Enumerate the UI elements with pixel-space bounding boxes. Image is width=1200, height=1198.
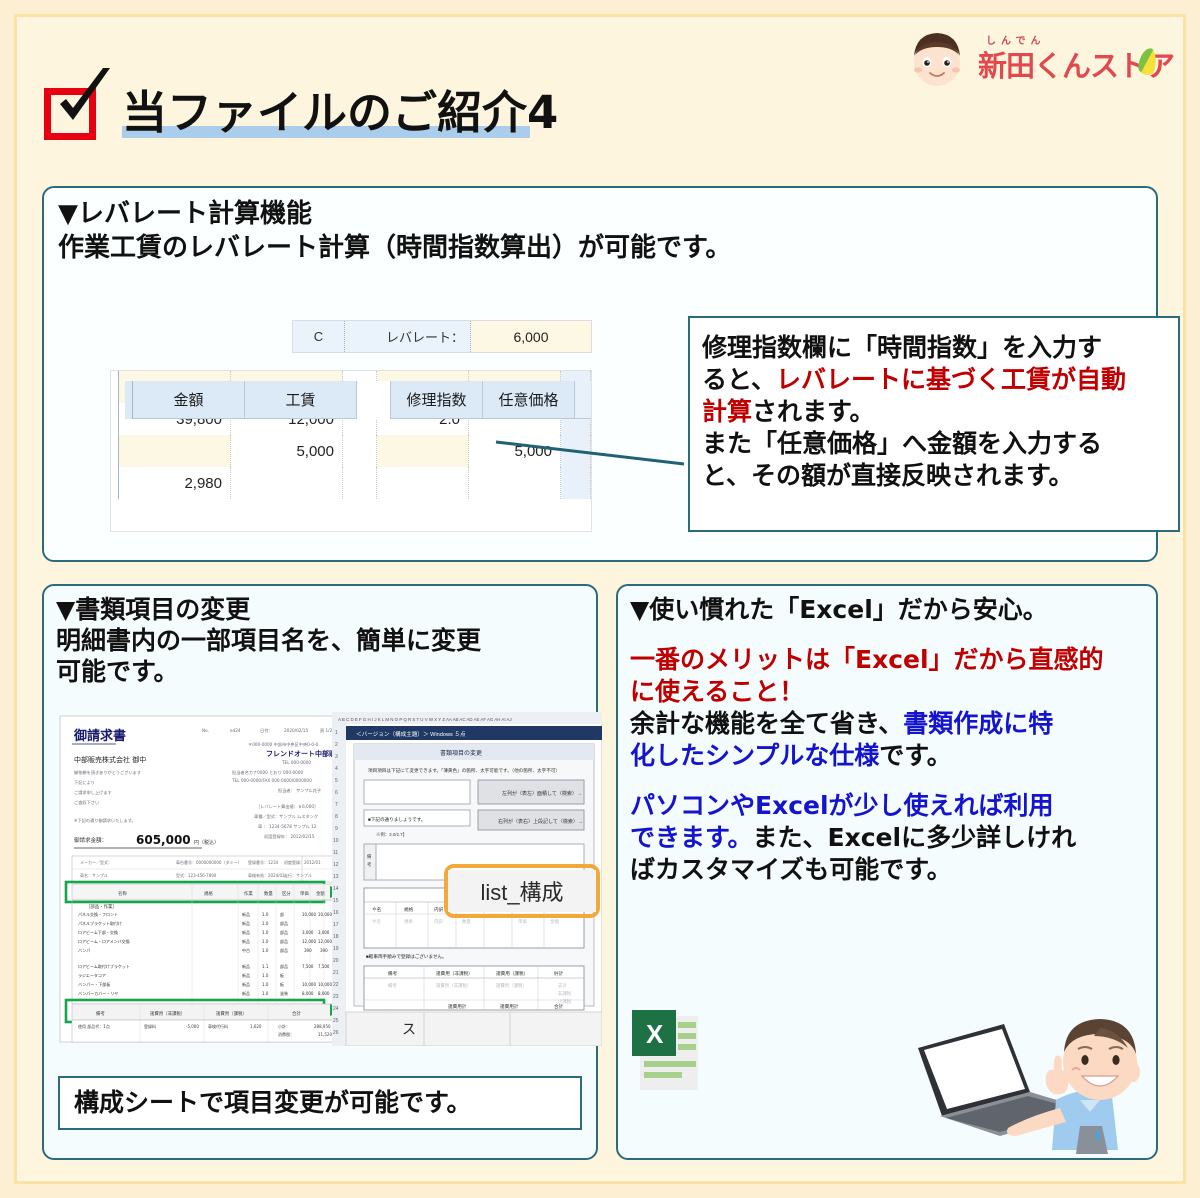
svg-text:パネル交換・フロント: パネル交換・フロント: [78, 911, 118, 917]
svg-text:288,950: 288,950: [314, 1024, 331, 1029]
svg-text:ロアビーム・ロアメンバ交換: ロアビーム・ロアメンバ交換: [78, 938, 130, 944]
svg-text:小計：: 小計：: [278, 1023, 290, 1029]
svg-text:非課税: 非課税: [558, 990, 572, 997]
svg-text:パネルブラケット取付け: パネルブラケット取付け: [78, 920, 122, 926]
svg-text:中古: 中古: [242, 947, 250, 953]
svg-text:11: 11: [333, 850, 338, 856]
box1-heading: ▼レバレート計算機能 作業工賃のレバレート計算（時間指数算出）が可能です。: [58, 198, 731, 266]
svg-text:1.0: 1.0: [262, 912, 269, 917]
svg-text:単価: 単価: [300, 890, 309, 897]
table-row[interactable]: 2,980: [111, 467, 591, 499]
lever-rate-label: レバレート：: [345, 321, 471, 352]
svg-text:12,000: 12,000: [302, 939, 316, 944]
table-header-row: 金額 工賃 修理指数 任意価格: [125, 381, 592, 419]
svg-text:■軽車両手順みで登録はございません。: ■軽車両手順みで登録はございません。: [366, 953, 447, 960]
svg-text:部品: 部品: [280, 947, 288, 953]
svg-text:担当者名カナ0000 とおり 000-0000: 担当者名カナ0000 とおり 000-0000: [232, 769, 304, 776]
svg-text:単価: 単価: [518, 918, 527, 925]
svg-text:規格: 規格: [404, 918, 413, 925]
svg-text:御依頼を頂きありがとうございます: 御依頼を頂きありがとうございます: [74, 769, 141, 776]
svg-text:項目項目は下記にて変更できます。「薄黄色」の箇所、太字可能で: 項目項目は下記にて変更できます。「薄黄色」の箇所、太字可能です。（他の箇所、太字…: [368, 767, 560, 774]
svg-text:11,520: 11,520: [318, 1032, 332, 1037]
svg-text:20: 20: [333, 958, 339, 964]
cell-shisu[interactable]: [377, 467, 469, 499]
cell-chin[interactable]: 5,000: [231, 435, 343, 467]
lever-rate-callout: 修理指数欄に「時間指数」を入力す ると、レバレートに基づく工賃が自動 計算されま…: [688, 316, 1180, 532]
svg-text:1.0: 1.0: [262, 948, 269, 953]
svg-text:走行：サンプル: 走行：サンプル: [284, 872, 312, 878]
svg-text:規格: 規格: [404, 906, 414, 913]
svg-text:7: 7: [335, 802, 338, 808]
svg-text:規格: 規格: [204, 890, 213, 897]
box2-heading-line3: 可能です。: [56, 656, 481, 687]
svg-text:バンパー・下部板: バンパー・下部板: [78, 981, 110, 987]
svg-text:3,000: 3,000: [302, 930, 314, 935]
svg-text:12,000: 12,000: [318, 939, 332, 944]
svg-text:車台番号：0000000000（ダミー）: 車台番号：0000000000（ダミー）: [176, 859, 241, 865]
svg-text:23: 23: [333, 994, 339, 1000]
svg-text:板: 板: [280, 981, 284, 987]
box2-caption: 構成シートで項目変更が可能です。: [58, 1076, 582, 1130]
box2-heading-line1: ▼書類項目の変更: [56, 594, 481, 625]
svg-text:諸費用（非課税）: 諸費用（非課税）: [436, 982, 471, 989]
cell-shisu[interactable]: [377, 435, 469, 467]
svg-text:8: 8: [335, 814, 338, 820]
svg-text:390: 390: [320, 948, 328, 953]
svg-text:390: 390: [304, 948, 312, 953]
invoice-thumbnail: 御請求書 No.e424 日付：2020/02/15 頁 1/2 〒000-00…: [52, 714, 344, 1044]
svg-text:数量: 数量: [462, 918, 471, 925]
svg-text:部: 部: [280, 911, 284, 917]
lever-rate-value[interactable]: 6,000: [471, 321, 591, 352]
svg-text:新品: 新品: [242, 963, 250, 969]
callout-seg4: 計算: [702, 397, 752, 426]
svg-text:2020/02/15: 2020/02/15: [284, 728, 308, 733]
callout-seg1: 修理指数欄に「時間指数」を入力す: [702, 333, 1102, 362]
svg-text:板: 板: [280, 972, 284, 978]
svg-text:諸費用（課税）: 諸費用（課税）: [496, 970, 528, 977]
svg-text:13: 13: [333, 874, 339, 880]
svg-text:車検有効：2024/02: 車検有効：2024/02: [248, 872, 285, 878]
callout-text: 修理指数欄に「時間指数」を入力す ると、レバレートに基づく工賃が自動 計算されま…: [690, 318, 1178, 492]
svg-text:車検代行料: 車検代行料: [208, 1023, 228, 1029]
svg-text:605,000: 605,000: [136, 833, 191, 847]
excel-benefits-section: ▼使い慣れた「Excel」だから安心。 一番のメリットは「Excel」だから直感…: [616, 584, 1158, 1160]
svg-text:9: 9: [335, 826, 338, 832]
svg-text:貯計: 貯計: [554, 970, 564, 977]
svg-text:21: 21: [333, 970, 339, 976]
svg-text:初度登録：2012/01: 初度登録：2012/01: [284, 859, 321, 865]
svg-text:バンパ: バンパ: [78, 948, 90, 953]
svg-text:7,500: 7,500: [318, 964, 330, 969]
table-header-shisu: 修理指数: [391, 381, 483, 419]
svg-text:1.0: 1.0: [262, 921, 269, 926]
cell-nini[interactable]: [469, 467, 561, 499]
svg-text:＜バージョン（構成主題）＞ Windows ５点: ＜バージョン（構成主題）＞ Windows ５点: [356, 730, 466, 738]
svg-text:や名: や名: [372, 906, 381, 913]
svg-text:日付：: 日付：: [260, 727, 273, 734]
svg-text:諸費用（課税）: 諸費用（課税）: [496, 982, 527, 989]
svg-text:2: 2: [335, 742, 338, 748]
box3-p2-black: また、Excelに多少詳しけれ: [753, 823, 1077, 852]
box3-p2-blue2: できます。: [630, 823, 753, 852]
svg-text:小課税: 小課税: [558, 998, 572, 1005]
svg-text:中部販売株式会社 御中: 中部販売株式会社 御中: [74, 755, 146, 764]
svg-text:1.0: 1.0: [262, 939, 269, 944]
svg-text:バンパーカバー・リヤ: バンパーカバー・リヤ: [78, 991, 118, 996]
svg-text:諸費用（非課税）: 諸費用（非課税）: [150, 1010, 185, 1017]
table-header-nini: 任意価格: [483, 381, 575, 419]
svg-text:金額: 金額: [550, 918, 559, 925]
svg-text:作業: 作業: [244, 890, 253, 897]
box1-heading-line2: 作業工賃のレバレート計算（時間指数算出）が可能です。: [58, 232, 731, 266]
cell-chin[interactable]: [231, 467, 343, 499]
sheet-tab-list-kousei[interactable]: list_構成: [448, 870, 596, 912]
svg-text:諸費用（非課税）: 諸費用（非課税）: [436, 970, 473, 977]
svg-text:10: 10: [333, 838, 339, 844]
svg-text:4: 4: [335, 766, 338, 772]
cell-nini[interactable]: 5,000: [469, 435, 561, 467]
title-row: 当ファイルのご紹介4: [42, 76, 558, 144]
svg-text:諸費用計: 諸費用計: [448, 1003, 467, 1010]
svg-text:3,000: 3,000: [318, 930, 330, 935]
boy-face-icon: [906, 28, 968, 90]
callout-seg2: ると、: [702, 365, 776, 394]
svg-text:17: 17: [333, 922, 339, 928]
lever-rate-strip: C レバレート： 6,000: [292, 320, 592, 353]
box3-p2-blue: パソコンやExcelが少し使えれば利用: [630, 791, 1054, 820]
box3-p1-blue: 書類作成に特: [903, 709, 1053, 738]
box3-p1-black: 余計な機能を全て省き、: [630, 709, 903, 738]
store-logo: しんでん 新田くんストア: [906, 26, 1154, 92]
callout-seg3: レバレートに基づく工賃が自動: [776, 365, 1126, 394]
box3-p1-red1: 一番のメリットは「Excel」だから直感的: [630, 645, 1104, 674]
excel-file-icon: X: [630, 1006, 702, 1094]
box2-heading-line2: 明細書内の一部項目名を、簡単に変更: [56, 625, 481, 656]
box3-p1-blue2: 化したシンプルな仕様: [630, 741, 879, 770]
svg-text:8,000: 8,000: [302, 991, 314, 996]
svg-text:19: 19: [333, 946, 339, 952]
svg-text:22: 22: [333, 982, 339, 988]
svg-text:TEL 000-0000/FAX 000-0000/0000: TEL 000-0000/FAX 000-0000/0000000: [231, 778, 312, 783]
svg-text:［部品・作業］: ［部品・作業］: [86, 903, 117, 910]
svg-text:新品: 新品: [242, 938, 250, 944]
svg-text:新品: 新品: [242, 972, 250, 978]
table-header-kingaku: 金額: [133, 381, 245, 419]
svg-text:※例：3.0/2.7】: ※例：3.0/2.7】: [376, 831, 407, 838]
svg-text:部品: 部品: [280, 963, 288, 969]
svg-text:新品: 新品: [242, 911, 250, 917]
box1-heading-line1: ▼レバレート計算機能: [58, 199, 312, 229]
box3-body: ▼使い慣れた「Excel」だから安心。 一番のメリットは「Excel」だから直感…: [630, 594, 1148, 886]
svg-text:10,000: 10,000: [302, 912, 316, 917]
svg-text:担当者： サンプル花子: 担当者： サンプル花子: [278, 787, 321, 794]
checked-checkbox-icon: [42, 82, 104, 144]
svg-text:車 ： 1234-5678 サンプル 12: 車 ： 1234-5678 サンプル 12: [258, 823, 317, 830]
svg-text:部品: 部品: [280, 929, 288, 935]
svg-text:下記により: 下記により: [74, 779, 95, 786]
svg-text:登録番号：1234: 登録番号：1234: [248, 859, 279, 865]
svg-text:14: 14: [333, 886, 339, 892]
svg-text:-5,000: -5,000: [186, 1024, 199, 1029]
cell-kingaku[interactable]: [119, 435, 231, 467]
svg-text:1.1: 1.1: [262, 964, 269, 969]
svg-text:諸費用計: 諸費用計: [500, 1003, 519, 1010]
svg-text:1.0: 1.0: [262, 930, 269, 935]
svg-text:ラジエータコア: ラジエータコア: [78, 972, 106, 978]
svg-text:6: 6: [335, 790, 338, 796]
svg-text:ス: ス: [402, 1021, 416, 1037]
svg-text:［レバレート算出値：￥6,000］: ［レバレート算出値：￥6,000］: [256, 803, 318, 810]
box3-paragraph-2: パソコンやExcelが少し使えれば利用 できます。また、Excelに多少詳しけれ…: [630, 790, 1148, 886]
svg-text:10,000: 10,000: [318, 982, 332, 987]
column-letter-cell: C: [293, 321, 345, 352]
svg-text:〒000-0000 中部市中央区中央0-0-0: 〒000-0000 中部市中央区中央0-0-0: [248, 741, 319, 748]
svg-text:10,000: 10,000: [302, 982, 316, 987]
svg-text:16: 16: [333, 910, 339, 916]
svg-text:新品: 新品: [242, 981, 250, 987]
svg-text:12: 12: [333, 862, 339, 868]
svg-text:メーカー／型式：: メーカー／型式：: [80, 859, 112, 865]
lever-rate-section: ▼レバレート計算機能 作業工賃のレバレート計算（時間指数算出）が可能です。 C …: [42, 186, 1158, 562]
svg-text:数量: 数量: [264, 890, 273, 897]
document-items-section: ▼書類項目の変更 明細書内の一部項目名を、簡単に変更 可能です。 御請求書 No…: [42, 584, 598, 1160]
svg-text:支計: 支計: [558, 982, 567, 989]
svg-text:初度登録年： 2012/02/15: 初度登録年： 2012/02/15: [264, 833, 315, 840]
callout-seg5: されます。: [752, 397, 875, 426]
svg-text:26: 26: [333, 1030, 339, 1036]
svg-text:24: 24: [333, 1006, 339, 1012]
svg-text:新品: 新品: [242, 929, 250, 935]
callout-seg6: また「任意価格」へ金額を入力する: [702, 429, 1102, 458]
svg-text:部品: 部品: [280, 920, 288, 926]
svg-text:部品: 部品: [280, 938, 288, 944]
box3-heading: ▼使い慣れた「Excel」だから安心。: [630, 594, 1148, 626]
svg-text:備考: 備考: [96, 1010, 105, 1017]
svg-text:車名：サンプル: 車名：サンプル: [80, 872, 108, 878]
svg-text:区分: 区分: [282, 890, 291, 897]
box3-paragraph-1: 一番のメリットは「Excel」だから直感的 に使えること！ 余計な機能を全て省き…: [630, 644, 1148, 772]
svg-text:25: 25: [333, 1018, 339, 1024]
svg-text:車種／型式：サンプル ムスタング: 車種／型式：サンプル ムスタング: [254, 813, 318, 820]
svg-text:8,000: 8,000: [318, 991, 330, 996]
svg-text:1.0: 1.0: [262, 982, 269, 987]
page-title: 当ファイルのご紹介4: [122, 76, 558, 143]
svg-text:18: 18: [333, 934, 339, 940]
svg-text:右列が〈表右〉上段記して〈検索〉→: 右列が〈表右〉上段記して〈検索〉→: [498, 818, 583, 825]
svg-text:塗装: 塗装: [280, 990, 288, 996]
svg-text:X: X: [646, 1019, 664, 1049]
box3-p1-tail: です。: [879, 741, 952, 770]
svg-text:1,620: 1,620: [250, 1024, 262, 1029]
svg-text:ご査収下さい: ご査収下さい: [74, 799, 99, 806]
svg-text:や名: や名: [372, 918, 381, 925]
svg-text:円（税込）: 円（税込）: [194, 839, 219, 846]
svg-text:No.: No.: [202, 728, 209, 733]
svg-text:※下記の通り御請求いたします。: ※下記の通り御請求いたします。: [74, 817, 136, 824]
svg-text:新品: 新品: [242, 920, 250, 926]
svg-text:備: 備: [367, 853, 372, 860]
cell-kingaku[interactable]: 2,980: [119, 467, 231, 499]
svg-text:合計: 合計: [292, 1010, 301, 1017]
logo-text: しんでん 新田くんストア: [974, 28, 1154, 90]
svg-text:3: 3: [335, 754, 338, 760]
svg-text:諸費用（課税）: 諸費用（課税）: [216, 1010, 247, 1017]
svg-text:1: 1: [335, 730, 338, 736]
svg-text:ロアビーム取付けブラケット: ロアビーム取付けブラケット: [78, 963, 130, 969]
box2-heading: ▼書類項目の変更 明細書内の一部項目名を、簡単に変更 可能です。: [56, 594, 481, 687]
svg-text:御請求金額：: 御請求金額：: [74, 836, 107, 844]
infographic-page: しんでん 新田くんストア 当ファイルのご紹介4 ▼レバレート計算機能 作業工賃の…: [0, 0, 1200, 1198]
svg-text:内訳: 内訳: [434, 918, 443, 925]
svg-text:7,500: 7,500: [302, 964, 314, 969]
svg-text:書類項目の変更: 書類項目の変更: [440, 749, 482, 757]
svg-text:■下記の通りましょうです。: ■下記の通りましょうです。: [368, 816, 425, 823]
svg-text:使用 部品代：1点: 使用 部品代：1点: [78, 1023, 110, 1029]
svg-text:内訳: 内訳: [434, 906, 444, 913]
svg-text:合計: 合計: [554, 1003, 564, 1010]
svg-text:e424: e424: [230, 728, 241, 733]
svg-text:10,000: 10,000: [318, 912, 332, 917]
svg-text:TEL 000-0000: TEL 000-0000: [281, 760, 311, 765]
svg-text:左列が〈表左〉面積して〈検索〉→: 左列が〈表左〉面積して〈検索〉→: [502, 790, 582, 797]
header: しんでん 新田くんストア 当ファイルのご紹介4: [22, 22, 1178, 170]
svg-text:1.0: 1.0: [262, 973, 269, 978]
svg-text:名称: 名称: [118, 890, 127, 897]
svg-text:ロアビーム下部・交換: ロアビーム下部・交換: [78, 929, 118, 935]
svg-text:登録料: 登録料: [144, 1023, 156, 1029]
spreadsheet-table: 金額 工賃 修理指数 任意価格 39,800 12,000: [110, 370, 592, 532]
svg-text:1.0: 1.0: [262, 991, 269, 996]
svg-text:A B C D E F G H I J K L M N O: A B C D E F G H I J K L M N O P Q R S T …: [338, 717, 512, 722]
callout-seg7: と、その額が直接反映されます。: [702, 461, 1074, 490]
svg-text:新品: 新品: [242, 990, 250, 996]
table-row[interactable]: 5,000 5,000: [111, 435, 591, 467]
svg-text:型式：123-456-7890: 型式：123-456-7890: [176, 872, 217, 878]
box3-p1-red2: に使えること！: [630, 677, 804, 706]
svg-text:御請求書: 御請求書: [73, 728, 126, 744]
box3-p2-black2: ばカスタマイズも可能です。: [630, 855, 952, 884]
table-header-chin: 工賃: [245, 381, 357, 419]
svg-text:15: 15: [333, 898, 339, 904]
svg-text:ご請求申し上げます: ご請求申し上げます: [74, 789, 112, 796]
svg-text:消費税：: 消費税：: [278, 1031, 294, 1037]
svg-text:備考: 備考: [388, 982, 397, 989]
svg-text:5: 5: [335, 778, 338, 784]
svg-text:備考: 備考: [388, 970, 398, 977]
person-with-laptop-icon: [904, 1004, 1156, 1154]
